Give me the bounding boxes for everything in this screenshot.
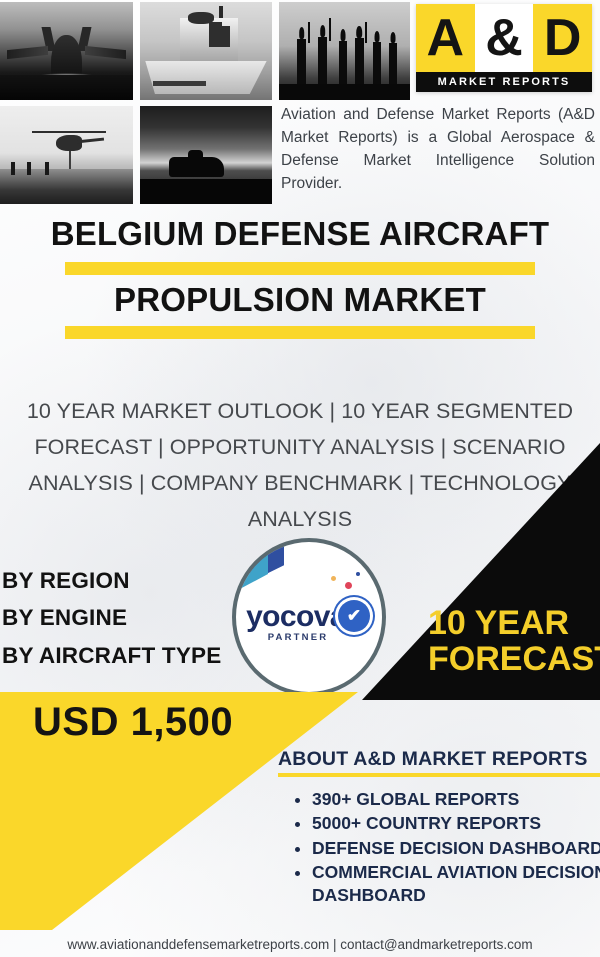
armored-vehicle-image <box>140 106 272 204</box>
military-helicopter-image <box>0 106 133 204</box>
about-section-heading: ABOUT A&D MARKET REPORTS <box>278 748 588 771</box>
report-price: USD 1,500 <box>33 700 233 745</box>
logo-letter-row: A & D <box>416 4 592 72</box>
yocova-partner-label: PARTNER <box>236 632 382 643</box>
report-cover-poster: A & D MARKET REPORTS Aviation and Defens… <box>0 0 600 957</box>
report-title-line-2: PROPULSION MARKET <box>0 282 600 319</box>
about-bullet-item: COMMERCIAL AVIATION DECISION DASHBOARD <box>312 861 600 906</box>
yocova-partner-badge: yocova PARTNER ✔ <box>232 538 386 696</box>
footer-contact-line: www.aviationanddefensemarketreports.com … <box>0 931 600 957</box>
segmentation-item-engine: BY ENGINE <box>2 599 221 636</box>
report-title-block: BELGIUM DEFENSE AIRCRAFT PROPULSION MARK… <box>0 216 600 339</box>
verified-checkmark-icon: ✔ <box>338 600 370 632</box>
logo-letter-d: D <box>533 4 592 72</box>
soldiers-silhouette-image <box>279 2 410 100</box>
about-bullet-item: DEFENSE DECISION DASHBOARD <box>312 837 600 859</box>
forecast-line-2: FORECAST <box>428 641 600 677</box>
segmentation-item-region: BY REGION <box>2 562 221 599</box>
about-bullet-item: 390+ GLOBAL REPORTS <box>312 788 600 810</box>
fighter-jet-image <box>0 2 133 100</box>
naval-warship-image <box>140 2 272 100</box>
sparkle-blue-icon <box>356 572 360 576</box>
logo-tagline: MARKET REPORTS <box>416 72 592 92</box>
logo-letter-ampersand: & <box>475 4 534 72</box>
segmentation-list: BY REGION BY ENGINE BY AIRCRAFT TYPE <box>2 562 221 674</box>
about-bullet-list: 390+ GLOBAL REPORTS 5000+ COUNTRY REPORT… <box>286 788 600 908</box>
report-scope-subtitle: 10 YEAR MARKET OUTLOOK | 10 YEAR SEGMENT… <box>22 393 578 537</box>
about-heading-underline <box>278 773 600 777</box>
logo-letter-a: A <box>416 4 475 72</box>
sparkle-amber-icon <box>331 576 336 581</box>
ad-market-reports-logo: A & D MARKET REPORTS <box>416 4 592 92</box>
title-divider-bar-bottom <box>65 326 535 339</box>
title-divider-bar-top <box>65 262 535 275</box>
forecast-callout: 10 YEAR FORECAST <box>428 605 600 677</box>
segmentation-item-aircraft-type: BY AIRCRAFT TYPE <box>2 637 221 674</box>
company-intro-paragraph: Aviation and Defense Market Reports (A&D… <box>281 104 595 196</box>
about-bullet-item: 5000+ COUNTRY REPORTS <box>312 812 600 834</box>
forecast-line-1: 10 YEAR <box>428 605 600 641</box>
report-title-line-1: BELGIUM DEFENSE AIRCRAFT <box>0 216 600 253</box>
sparkle-red-icon <box>345 582 352 589</box>
